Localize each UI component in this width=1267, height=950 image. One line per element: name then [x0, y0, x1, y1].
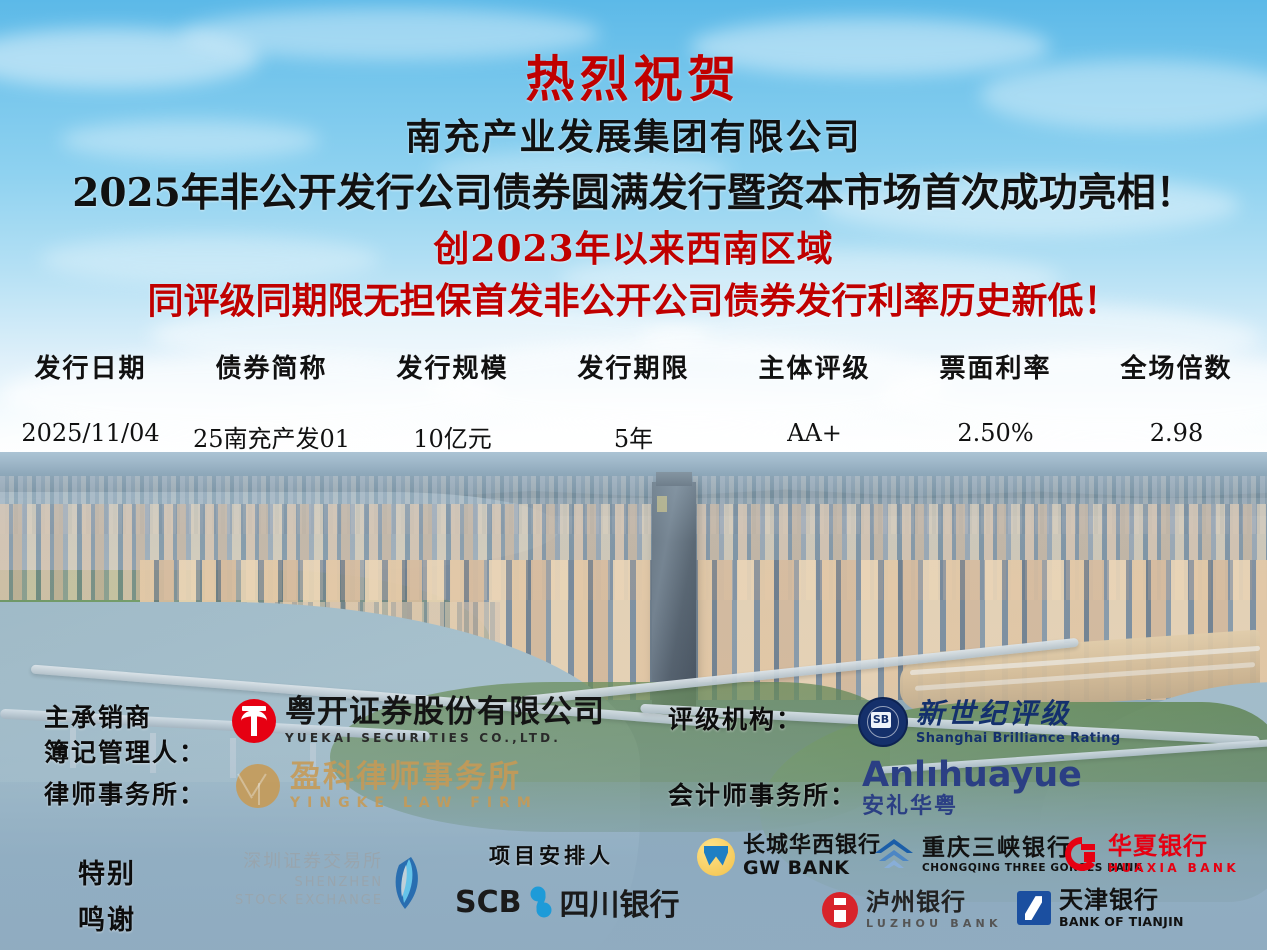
col-header-bond-name: 债券简称 — [181, 348, 362, 419]
label-accounting-firm: 会计师事务所： — [668, 776, 857, 812]
headline-company-name: 南充产业发展集团有限公司 — [0, 108, 1267, 160]
logo-yuekai-securities: 粤开证券股份有限公司 YUEKAI SECURITIES CO.,LTD. — [232, 697, 605, 744]
gwbank-name-en: GW BANK — [743, 859, 881, 879]
brilliance-seal-icon: SB — [858, 697, 908, 747]
table-header-row: 发行日期 债券简称 发行规模 发行期限 主体评级 票面利率 全场倍数 — [0, 348, 1267, 419]
col-header-coupon-rate: 票面利率 — [905, 348, 1086, 419]
logo-bank-of-tianjin: 天津银行 BANK OF TIANJIN — [1017, 888, 1184, 928]
label-lead-underwriter: 主承销商 — [44, 698, 152, 734]
tianjin-name-en: BANK OF TIANJIN — [1059, 915, 1184, 928]
cell-issue-term: 5年 — [543, 419, 724, 454]
luzhou-name-en: LUZHOU BANK — [866, 918, 1002, 930]
label-project-arranger: 项目安排人 — [489, 840, 614, 870]
luzhou-mark-icon — [822, 892, 858, 928]
anlihuayue-name-cn: 安礼华粤 — [862, 796, 1082, 818]
col-header-subscription-multiple: 全场倍数 — [1086, 348, 1267, 419]
szse-name-en2: STOCK EXCHANGE — [235, 894, 383, 909]
gwbank-name-cn: 长城华西银行 — [743, 834, 881, 857]
huaxia-mark-icon — [1064, 836, 1100, 872]
label-special-thanks-line2: 鸣谢 — [78, 898, 136, 937]
col-header-issue-date: 发行日期 — [0, 348, 181, 419]
bond-details-table: 发行日期 债券简称 发行规模 发行期限 主体评级 票面利率 全场倍数 2025/… — [0, 348, 1267, 454]
logo-shenzhen-stock-exchange: 深圳证券交易所 SHENZHEN STOCK EXCHANGE — [235, 852, 421, 909]
celebration-poster: 热烈祝贺 南充产业发展集团有限公司 2025年非公开发行公司债券圆满发行暨资本市… — [0, 0, 1267, 950]
logo-sichuan-bank: SCB 四川银行 — [455, 880, 680, 924]
headline-record-region: 创2023年以来西南区域 — [0, 220, 1267, 272]
table-row: 2025/11/04 25南充产发01 10亿元 5年 AA+ 2.50% 2.… — [0, 419, 1267, 454]
cell-issuer-rating: AA+ — [724, 419, 905, 454]
logo-huaxia-bank: 华夏银行 HUAXIA BANK — [1064, 834, 1239, 875]
headline-record-rate: 同评级同期限无担保首发非公开公司债券发行利率历史新低！ — [0, 272, 1267, 324]
scb-abbrev: SCB — [455, 885, 522, 920]
szse-name-cn: 深圳证券交易所 — [235, 852, 383, 873]
tianjin-name-cn: 天津银行 — [1059, 888, 1184, 913]
yuekai-name-cn: 粤开证券股份有限公司 — [285, 697, 605, 728]
szse-wing-icon — [389, 857, 421, 909]
yuekai-name-en: YUEKAI SECURITIES CO.,LTD. — [285, 732, 605, 744]
anlihuayue-name-en: Anlıhuayue — [862, 758, 1082, 793]
headline-congratulations: 热烈祝贺 — [0, 40, 1267, 111]
logo-luzhou-bank: 泸州银行 LUZHOU BANK — [822, 890, 1002, 930]
brilliance-name-en: Shanghai Brilliance Rating — [916, 732, 1121, 745]
logo-anlihuayue: Anlıhuayue 安礼华粤 — [862, 758, 1082, 818]
brilliance-monogram: SB — [871, 712, 891, 728]
luzhou-name-cn: 泸州银行 — [866, 890, 1002, 915]
cell-coupon-rate: 2.50% — [905, 419, 1086, 454]
gwbank-mark-icon — [697, 838, 735, 876]
label-bookrunner: 簿记管理人： — [44, 733, 206, 769]
yuekai-mark-icon — [232, 699, 276, 743]
scb-knot-icon — [528, 885, 554, 919]
tianjin-mark-icon — [1017, 891, 1051, 925]
logo-greatwall-west-china-bank: 长城华西银行 GW BANK — [697, 834, 881, 879]
headline-issuance-statement: 2025年非公开发行公司债券圆满发行暨资本市场首次成功亮相！ — [0, 162, 1267, 218]
col-header-issue-term: 发行期限 — [543, 348, 724, 419]
label-law-firm: 律师事务所： — [44, 775, 206, 811]
cell-issue-date: 2025/11/04 — [0, 419, 181, 454]
col-header-issuer-rating: 主体评级 — [724, 348, 905, 419]
huaxia-name-cn: 华夏银行 — [1108, 834, 1239, 859]
huaxia-name-en: HUAXIA BANK — [1108, 862, 1239, 875]
label-rating-agency: 评级机构： — [668, 700, 803, 736]
col-header-issue-size: 发行规模 — [362, 348, 543, 419]
logo-yingke-law-firm: 盈科律师事务所 YINGKE LAW FIRM — [236, 762, 538, 810]
szse-name-en1: SHENZHEN — [235, 876, 383, 891]
brilliance-name-cn: 新世纪评级 — [916, 700, 1121, 728]
yingke-name-en: YINGKE LAW FIRM — [290, 796, 538, 810]
yingke-name-cn: 盈科律师事务所 — [290, 762, 538, 793]
cqtgb-mark-icon — [873, 837, 915, 873]
cell-subscription-multiple: 2.98 — [1086, 419, 1267, 454]
label-special-thanks-line1: 特别 — [78, 852, 136, 891]
scb-name-cn: 四川银行 — [560, 880, 680, 924]
cell-issue-size: 10亿元 — [362, 419, 543, 454]
logo-shanghai-brilliance-rating: SB 新世纪评级 Shanghai Brilliance Rating — [858, 697, 1121, 747]
cell-bond-name: 25南充产发01 — [181, 419, 362, 454]
yingke-cube-icon — [236, 764, 280, 808]
